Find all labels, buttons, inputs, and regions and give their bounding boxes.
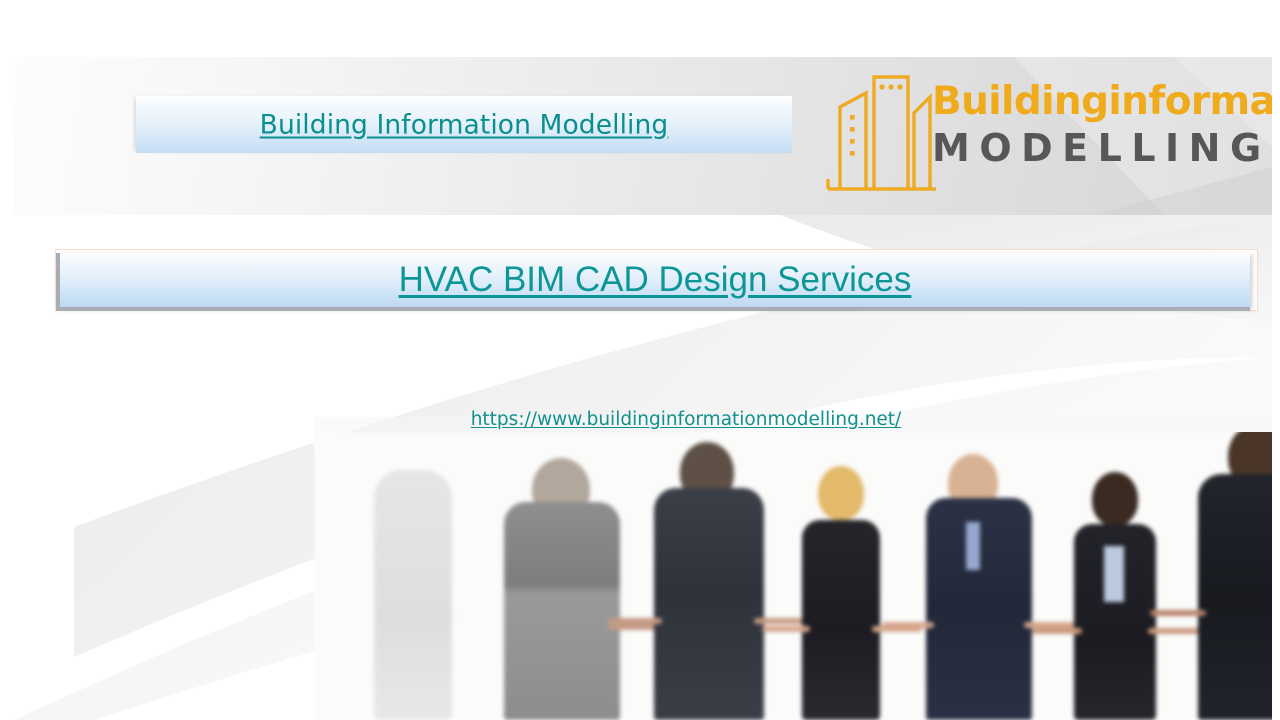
building-information-modelling-link[interactable]: Building Information Modelling — [136, 109, 792, 140]
logo-word-modelling: MODELLING — [932, 126, 1272, 170]
building-towers-icon — [826, 67, 938, 201]
brand-logo: Buildinginformation MODELLING — [814, 60, 1266, 212]
main-banner-inner[interactable]: HVAC BIM CAD Design Services — [60, 253, 1250, 307]
business-people-holding-hands-photo — [314, 432, 1272, 720]
hvac-bim-cad-design-services-link[interactable]: HVAC BIM CAD Design Services — [60, 260, 1250, 300]
logo-word-buildinginformation: Buildinginformation — [932, 80, 1272, 124]
title-box[interactable]: Building Information Modelling — [136, 96, 792, 153]
header-band: Building Information Modelling — [14, 57, 1272, 215]
website-url-link[interactable]: https://www.buildinginformationmodelling… — [14, 409, 1272, 430]
logo-wordmark: Buildinginformation MODELLING — [932, 80, 1272, 170]
main-banner[interactable]: HVAC BIM CAD Design Services — [55, 249, 1258, 311]
slide-canvas: Building Information Modelling — [14, 57, 1272, 720]
